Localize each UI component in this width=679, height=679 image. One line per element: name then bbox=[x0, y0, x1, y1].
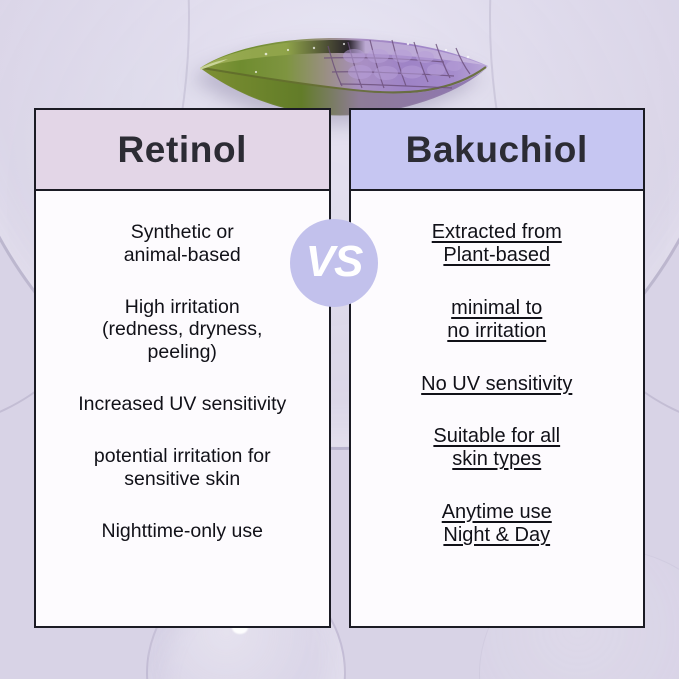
list-item: Extracted from Plant-based bbox=[365, 221, 630, 268]
list-item: High irritation (redness, dryness, peeli… bbox=[50, 296, 315, 364]
item-line: peeling) bbox=[50, 341, 315, 364]
item-line: minimal to bbox=[365, 297, 630, 320]
item-line: Synthetic or bbox=[50, 221, 315, 244]
list-item: Nighttime-only use bbox=[50, 520, 315, 543]
item-line: Nighttime-only use bbox=[50, 520, 315, 543]
item-line: Extracted from bbox=[365, 221, 630, 244]
item-line: Suitable for all bbox=[365, 425, 630, 448]
list-item: potential irritation for sensitive skin bbox=[50, 445, 315, 491]
item-line: (redness, dryness, bbox=[50, 318, 315, 341]
retinol-header: Retinol bbox=[36, 110, 329, 191]
item-line: skin types bbox=[365, 448, 630, 471]
item-line: Anytime use bbox=[365, 501, 630, 524]
item-line: potential irritation for bbox=[50, 445, 315, 468]
vs-badge: VS bbox=[290, 219, 378, 307]
item-line: Increased UV sensitivity bbox=[50, 393, 315, 416]
list-item: Anytime use Night & Day bbox=[365, 501, 630, 548]
bakuchiol-items: Extracted from Plant-based minimal to no… bbox=[351, 191, 644, 626]
item-line: no irritation bbox=[365, 320, 630, 343]
comparison-table: Retinol Synthetic or animal-based High i… bbox=[34, 108, 645, 628]
column-bakuchiol: Bakuchiol Extracted from Plant-based min… bbox=[349, 108, 646, 628]
item-line: animal-based bbox=[50, 244, 315, 267]
list-item: No UV sensitivity bbox=[365, 373, 630, 396]
column-retinol: Retinol Synthetic or animal-based High i… bbox=[34, 108, 331, 628]
item-line: sensitive skin bbox=[50, 468, 315, 491]
vs-label: VS bbox=[306, 240, 363, 284]
infographic-canvas: Retinol Synthetic or animal-based High i… bbox=[0, 0, 679, 679]
item-line: Night & Day bbox=[365, 524, 630, 547]
item-line: High irritation bbox=[50, 296, 315, 319]
retinol-title: Retinol bbox=[117, 129, 247, 171]
item-line: Plant-based bbox=[365, 244, 630, 267]
list-item: Synthetic or animal-based bbox=[50, 221, 315, 267]
item-line: No UV sensitivity bbox=[365, 373, 630, 396]
bakuchiol-header: Bakuchiol bbox=[351, 110, 644, 191]
bakuchiol-title: Bakuchiol bbox=[406, 129, 588, 171]
retinol-items: Synthetic or animal-based High irritatio… bbox=[36, 191, 329, 626]
list-item: Suitable for all skin types bbox=[365, 425, 630, 472]
list-item: minimal to no irritation bbox=[365, 297, 630, 344]
list-item: Increased UV sensitivity bbox=[50, 393, 315, 416]
